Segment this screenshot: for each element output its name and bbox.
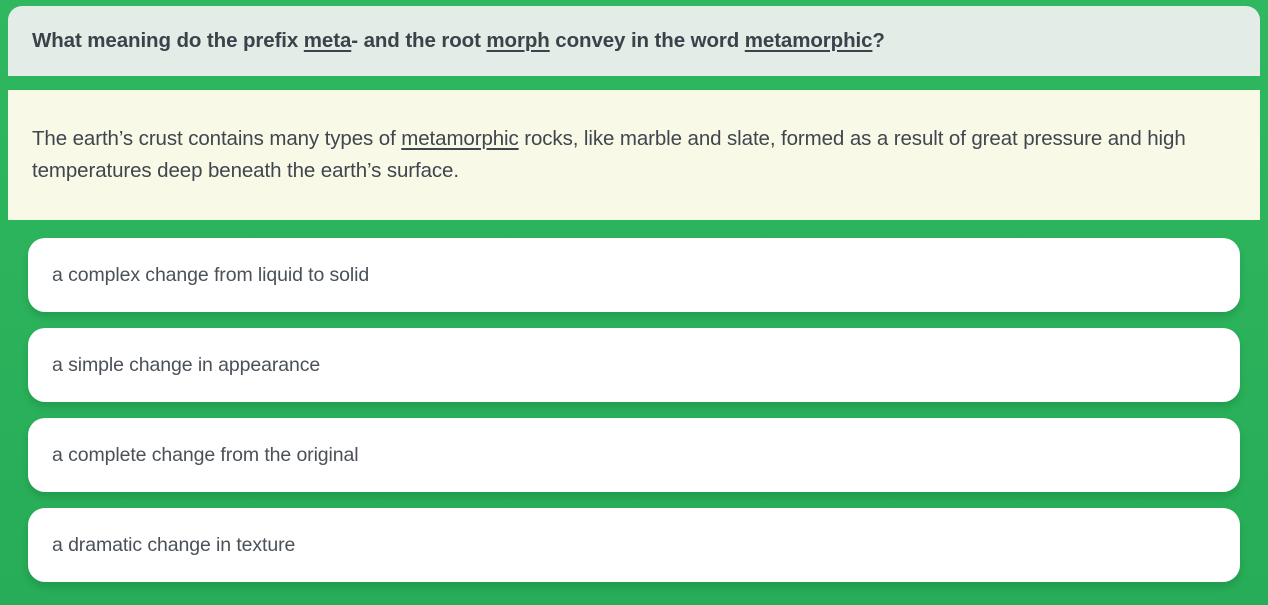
passage-text-segment-1: The earth’s crust contains many types of [32,127,401,150]
answer-option-label: a complete change from the original [52,444,359,467]
question-text-segment-2: - and the root [351,29,486,52]
question-text-segment-3: convey in the word [550,29,745,52]
question-text-segment-1: What meaning do the prefix [32,29,304,52]
passage-underlined-word-metamorphic: metamorphic [401,127,518,150]
passage-card: The earth’s crust contains many types of… [8,90,1260,220]
answer-option-label: a complex change from liquid to solid [52,264,369,287]
answer-option-label: a simple change in appearance [52,354,320,377]
question-underlined-prefix-meta: meta [304,29,351,52]
question-text: What meaning do the prefix meta- and the… [32,28,885,55]
answer-option-3[interactable]: a complete change from the original [28,418,1240,492]
question-underlined-root-morph: morph [486,29,549,52]
answer-option-4[interactable]: a dramatic change in texture [28,508,1240,582]
passage-text: The earth’s crust contains many types of… [32,123,1232,188]
question-card: What meaning do the prefix meta- and the… [8,6,1260,76]
answer-option-1[interactable]: a complex change from liquid to solid [28,238,1240,312]
quiz-screen: What meaning do the prefix meta- and the… [0,0,1268,605]
answer-option-2[interactable]: a simple change in appearance [28,328,1240,402]
answer-option-label: a dramatic change in texture [52,534,295,557]
question-underlined-word-metamorphic: metamorphic [745,29,873,52]
answer-options-list: a complex change from liquid to solid a … [0,238,1268,582]
question-text-segment-4: ? [872,29,884,52]
